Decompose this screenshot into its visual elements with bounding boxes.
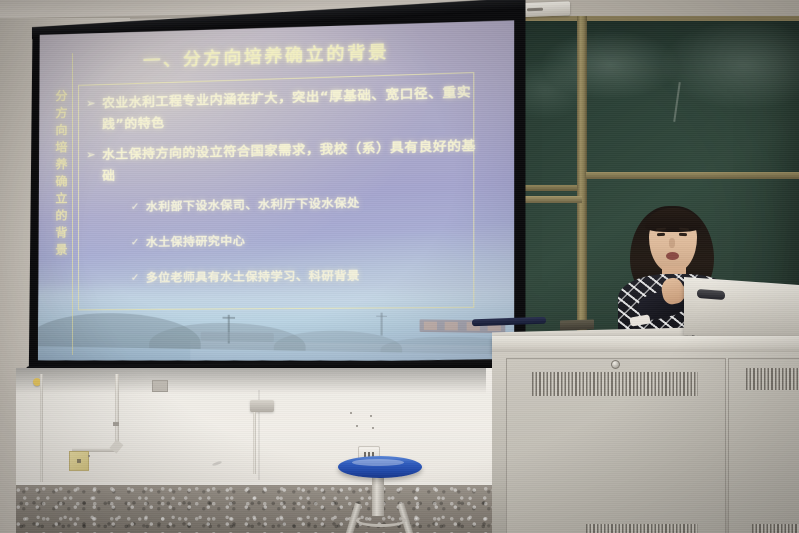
check-bullet-icon: ✓	[131, 198, 140, 217]
cabinet-vent	[746, 368, 799, 390]
bullet-item: ➢ 水土保持方向的设立符合国家需求，我校（系）具有良好的基础	[86, 134, 479, 186]
presenter-eye	[679, 233, 687, 237]
slide-sub-bullet-list: ✓ 水利部下设水保司、水利厅下设水保处 ✓ 水土保持研究中心 ✓ 多位老师具有水…	[86, 191, 479, 288]
presenter-nose	[669, 238, 675, 248]
projection-screen: 分方向培养确立的背景 一、分方向培养确立的背景 ➢ 农业水利工程专业内涵在扩大，…	[22, 1, 525, 395]
wall-screw	[370, 415, 372, 417]
sub-bullet-item: ✓ 多位老师具有水土保持学习、科研背景	[131, 265, 479, 288]
arrow-bullet-icon: ➢	[86, 144, 96, 165]
sub-bullet-text: 多位老师具有水土保持学习、科研背景	[146, 266, 360, 288]
blackboard-divider-horizontal	[586, 172, 799, 179]
arrow-bullet-icon: ➢	[86, 92, 96, 113]
bullet-text: 水土保持方向的设立符合国家需求，我校（系）具有良好的基础	[102, 134, 479, 186]
cabinet-vent	[586, 524, 698, 533]
presentation-slide: 分方向培养确立的背景 一、分方向培养确立的背景 ➢ 农业水利工程专业内涵在扩大，…	[38, 20, 514, 369]
slide-side-rule	[72, 53, 73, 355]
photo-pylon	[381, 313, 383, 336]
cabinet-vent	[532, 372, 698, 396]
sub-bullet-item: ✓ 水土保持研究中心	[131, 228, 479, 252]
wall-screw	[372, 427, 374, 429]
presenter-mouth	[666, 252, 679, 260]
cable-conduit-vertical	[40, 374, 43, 484]
presenter-eye	[657, 233, 665, 237]
wall-screw	[88, 455, 90, 457]
wall-box-conduit	[253, 412, 256, 474]
check-bullet-icon: ✓	[131, 269, 140, 288]
sub-bullet-text: 水土保持研究中心	[146, 231, 245, 252]
check-bullet-icon: ✓	[131, 233, 140, 252]
stool-highlight	[352, 459, 404, 466]
slide-side-title: 分方向培养确立的背景	[48, 89, 70, 260]
desk-booklet	[560, 319, 594, 330]
rail-fixture-label	[527, 8, 543, 12]
blackboard-divider-vertical	[577, 16, 587, 348]
slide-bullet-list: ➢ 农业水利工程专业内涵在扩大，突出“厚基础、宽口径、重实践”的特色 ➢ 水土保…	[86, 80, 479, 304]
photo-boat	[201, 332, 274, 342]
sub-bullet-item: ✓ 水利部下设水保司、水利厅下设水保处	[131, 191, 479, 217]
cabinet-lock-icon[interactable]	[611, 360, 620, 369]
wall-screw	[356, 425, 358, 427]
wall-shadow	[16, 368, 486, 394]
wall-outlet-upper	[152, 380, 168, 392]
wall-screw	[350, 412, 352, 414]
microphone-base	[697, 289, 725, 300]
wall-mounted-box	[250, 400, 274, 412]
cabinet-vent	[752, 524, 799, 533]
stool-post	[372, 476, 384, 516]
lecture-hall-photo: 分方向培养确立的背景 一、分方向培养确立的背景 ➢ 农业水利工程专业内涵在扩大，…	[0, 0, 799, 533]
conduit-clip	[113, 422, 119, 426]
slide-title: 一、分方向培养确立的背景	[94, 35, 441, 73]
sub-bullet-text: 水利部下设水保司、水利厅下设水保处	[146, 193, 360, 216]
wall-junction-box	[69, 451, 89, 471]
